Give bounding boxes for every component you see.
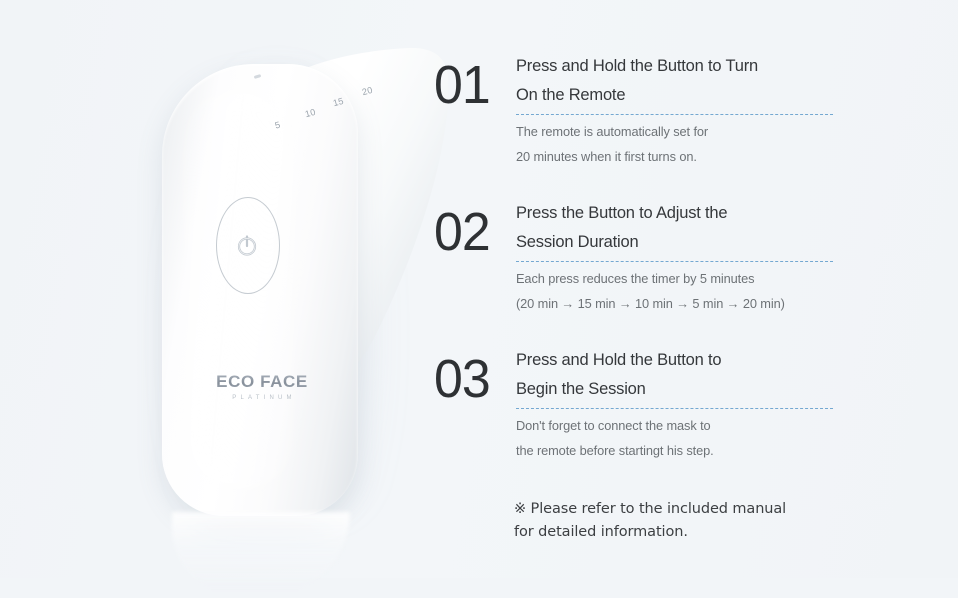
- step-text-block: Press and Hold the Button to Turn On the…: [516, 52, 844, 170]
- step-number: 01: [434, 52, 513, 112]
- step-title: Press the Button to Adjust the Session D…: [516, 199, 844, 258]
- step-item: 01 Press and Hold the Button to Turn On …: [434, 52, 844, 170]
- instruction-steps: 01 Press and Hold the Button to Turn On …: [434, 0, 958, 578]
- step-divider: [516, 114, 833, 115]
- brand-lockup: ECO FACE PLATINUM: [182, 372, 342, 401]
- step-divider: [516, 261, 833, 262]
- step-item: 02 Press the Button to Adjust the Sessio…: [434, 199, 844, 317]
- timer-mark-10: 10: [304, 107, 317, 119]
- timer-mark-15: 15: [332, 96, 345, 108]
- timer-scale: 5 10 15 20: [120, 20, 450, 220]
- manual-reference-note: ※ Please refer to the included manual fo…: [514, 498, 914, 545]
- step-title: Press and Hold the Button to Begin the S…: [516, 346, 844, 405]
- timer-mark-20: 20: [361, 85, 374, 97]
- device-reflection: [172, 512, 350, 598]
- brand-name: ECO FACE: [182, 372, 342, 392]
- brand-subtitle: PLATINUM: [182, 395, 342, 401]
- step-number: 02: [434, 199, 513, 259]
- step-number: 03: [434, 346, 513, 406]
- step-text-block: Press and Hold the Button to Begin the S…: [516, 346, 844, 464]
- instruction-page: 5 10 15 20 ECO FACE PLATINUM 01 Press an…: [0, 0, 958, 578]
- step-text-block: Press the Button to Adjust the Session D…: [516, 199, 844, 317]
- device-illustration: 5 10 15 20 ECO FACE PLATINUM: [120, 20, 450, 560]
- power-icon[interactable]: [234, 232, 260, 258]
- step-body: Don't forget to connect the mask to the …: [516, 414, 844, 464]
- step-body: The remote is automatically set for 20 m…: [516, 120, 844, 170]
- step-item: 03 Press and Hold the Button to Begin th…: [434, 346, 844, 464]
- step-body: Each press reduces the timer by 5 minute…: [516, 267, 844, 317]
- step-title: Press and Hold the Button to Turn On the…: [516, 52, 844, 111]
- step-divider: [516, 408, 833, 409]
- timer-mark-5: 5: [274, 119, 282, 130]
